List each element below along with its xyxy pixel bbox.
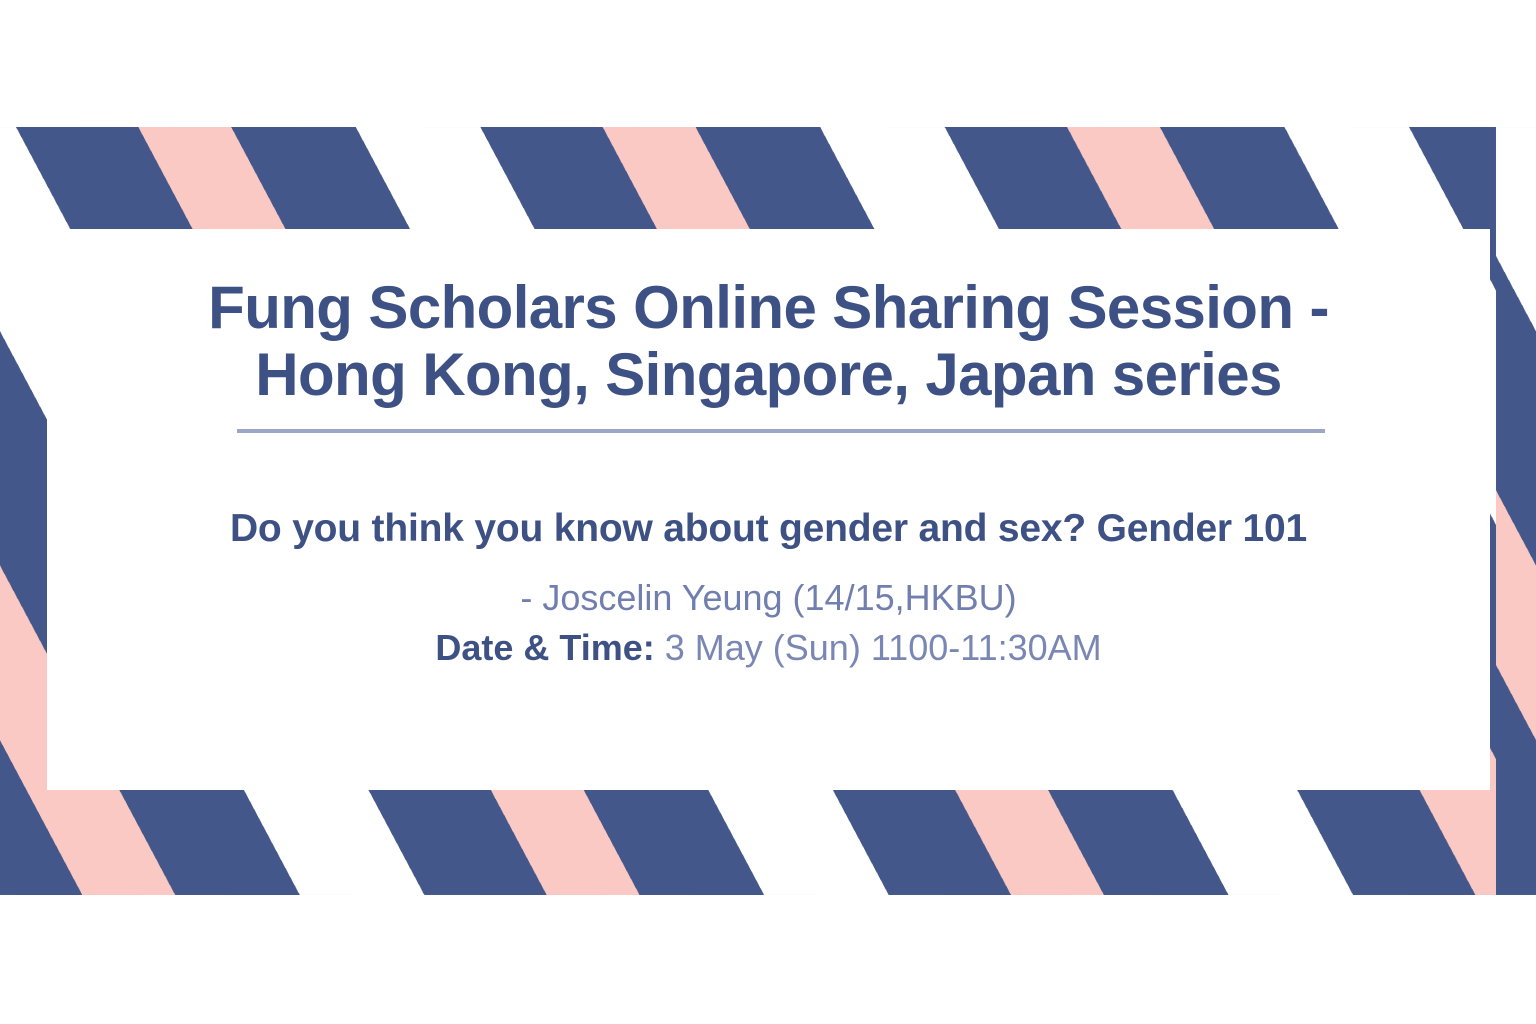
page-title: Fung Scholars Online Sharing Session - H… (47, 274, 1490, 408)
page-title-line-2: Hong Kong, Singapore, Japan series (71, 341, 1466, 408)
title-divider (237, 429, 1325, 433)
datetime-value: 3 May (Sun) 1100-11:30AM (665, 627, 1102, 668)
content-card: Fung Scholars Online Sharing Session - H… (47, 229, 1490, 790)
datetime-label: Date & Time: (435, 627, 664, 668)
event-poster: Fung Scholars Online Sharing Session - H… (0, 0, 1536, 1024)
session-subtitle: Do you think you know about gender and s… (47, 507, 1490, 551)
datetime-line: Date & Time: 3 May (Sun) 1100-11:30AM (47, 627, 1490, 669)
speaker-credit: - Joscelin Yeung (14/15,HKBU) (47, 577, 1490, 619)
card-inner: Fung Scholars Online Sharing Session - H… (47, 229, 1490, 790)
page-title-line-1: Fung Scholars Online Sharing Session - (71, 274, 1466, 341)
